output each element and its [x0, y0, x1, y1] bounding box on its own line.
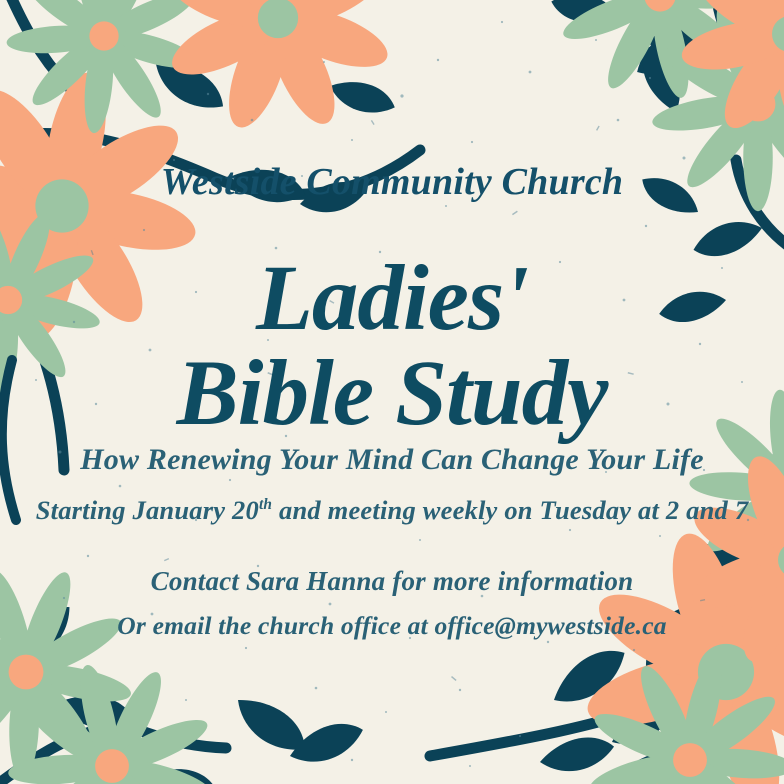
title-line-2: Bible Study — [40, 347, 744, 442]
email-contact-line: Or email the church office at office@myw… — [0, 612, 784, 639]
event-tagline: How Renewing Your Mind Can Change Your L… — [0, 444, 784, 476]
title-line-1: Ladies' — [40, 252, 744, 347]
date-ordinal-suffix: th — [259, 496, 272, 513]
poster-text-layer: Westside Community Church Ladies' Bible … — [0, 0, 784, 784]
poster-title: Ladies' Bible Study — [0, 252, 784, 442]
schedule-line: Starting January 20th and meeting weekly… — [0, 492, 784, 530]
poster-canvas: Westside Community Church Ladies' Bible … — [0, 0, 784, 784]
schedule-end-text: and meeting weekly on Tuesday at 2 and 7 — [272, 495, 748, 525]
schedule-start-text: Starting January 20 — [36, 495, 259, 525]
contact-line: Contact Sara Hanna for more information — [0, 567, 784, 596]
organization-name: Westside Community Church — [0, 160, 784, 205]
